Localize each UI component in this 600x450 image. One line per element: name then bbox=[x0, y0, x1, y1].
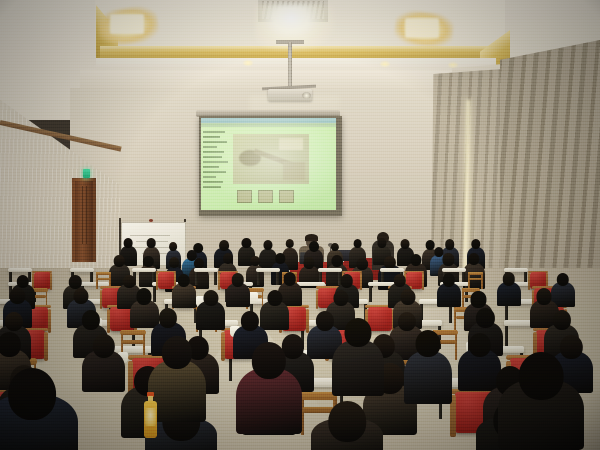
audience-person-r2-c3-head bbox=[241, 311, 259, 331]
audience-person-r1-c4-head bbox=[267, 290, 282, 306]
audience-person-center-dark-torso bbox=[332, 340, 384, 396]
beverage-bottle bbox=[144, 392, 157, 438]
wood-chair-r0-c1-slat bbox=[97, 278, 109, 280]
cove-downlight-1 bbox=[243, 60, 253, 66]
projection-screen bbox=[201, 118, 336, 210]
audience-person-r0-c8 bbox=[437, 273, 461, 307]
audience-person-r1-c2-head bbox=[137, 288, 152, 304]
audience-person-mid-8-head bbox=[331, 255, 342, 267]
cove-downlight-3 bbox=[448, 62, 458, 68]
audience-person-mid-12-head bbox=[443, 253, 454, 265]
audience-person-r1-c1-head bbox=[73, 288, 88, 304]
audience-person-mid-0-head bbox=[114, 255, 125, 267]
audience-person-r3-c5-head bbox=[469, 333, 491, 357]
projector-pole bbox=[288, 42, 292, 88]
screen-glare bbox=[201, 118, 336, 210]
red-chair-r1-c1-arm-left bbox=[100, 290, 103, 310]
audience-person-r2-c7-head bbox=[553, 310, 571, 330]
audience-person-far-0-head bbox=[124, 238, 133, 247]
audience-person-r1-c6-head bbox=[400, 289, 415, 305]
audience-person-r1-c8-head bbox=[536, 288, 551, 304]
audience-person-mid-2-head bbox=[169, 257, 179, 268]
whiteboard-clip bbox=[149, 219, 153, 222]
audience-person-r1-c0-head bbox=[10, 288, 25, 304]
door-mullion-1 bbox=[82, 186, 83, 244]
audience-person-far-1-head bbox=[147, 238, 156, 247]
audience-person-right-mid-head bbox=[416, 330, 441, 357]
audience-person-r0-c9-torso bbox=[497, 282, 521, 306]
audience-person-center-dark bbox=[332, 318, 384, 396]
audience-person-r1-c3 bbox=[196, 290, 225, 330]
audience-person-foreground-right-head bbox=[519, 352, 564, 400]
audience-person-far-2-head bbox=[169, 242, 177, 250]
audience-person-far-8-head bbox=[309, 241, 319, 252]
table-r0-c3-leg-right bbox=[214, 272, 217, 286]
wood-chair-r0-c1-crest bbox=[96, 272, 111, 275]
door-mullion-2 bbox=[86, 186, 87, 244]
audience-person-mid-4-head bbox=[223, 253, 233, 264]
audience-person-r2-c2-head bbox=[159, 308, 177, 328]
exit-sign-icon bbox=[83, 169, 90, 178]
audience-person-mid-1-head bbox=[143, 256, 153, 267]
red-chair-r0-c5-arm-right bbox=[360, 273, 362, 290]
audience-person-foreground-left-head bbox=[8, 368, 56, 420]
audience-person-mid-5-head bbox=[250, 256, 260, 266]
audience-person-right-mid-torso bbox=[404, 351, 452, 404]
audience-person-r0-c4 bbox=[226, 273, 250, 307]
red-chair-r1-c4-arm-left bbox=[316, 290, 319, 310]
audience-person-foreground-right bbox=[498, 352, 584, 450]
meeting-room-photo bbox=[0, 0, 600, 450]
red-chair-r0-c0-back bbox=[34, 272, 51, 289]
audience-person-r5-c2 bbox=[311, 401, 383, 450]
audience-person-r3-c1-head bbox=[92, 334, 114, 358]
audience-person-far-12-head bbox=[401, 239, 410, 249]
audience-person-far-6-head bbox=[263, 240, 272, 250]
red-chair-r3-c0-arm-right bbox=[44, 332, 48, 361]
red-chair-r3-c2-arm-left bbox=[221, 332, 225, 361]
audience-person-far-4-head bbox=[219, 240, 229, 251]
audience-person-mid-11-head bbox=[410, 254, 421, 266]
audience-person-r5-c2-head bbox=[328, 401, 365, 441]
red-chair-r0-c2-arm-left bbox=[156, 273, 158, 290]
wood-chair-r0-c7 bbox=[468, 272, 483, 289]
audience-person-far-5-head bbox=[242, 238, 251, 248]
audience-person-maroon-coat-head bbox=[252, 342, 286, 379]
audience-person-maroon-coat bbox=[236, 342, 302, 434]
audience-person-mid-9-head bbox=[357, 258, 369, 271]
ceiling-light-right-core bbox=[405, 18, 439, 38]
audience-person-foreground-left bbox=[0, 368, 78, 450]
audience-person-r0-c3-torso bbox=[172, 283, 196, 307]
red-chair-r0-c0-arm-right bbox=[50, 273, 52, 290]
audience-person-r0-c9 bbox=[497, 272, 521, 306]
audience-person-r2-c1-head bbox=[81, 310, 99, 330]
audience-person-r1-c5-head bbox=[333, 290, 348, 306]
exit-door[interactable] bbox=[75, 181, 93, 262]
wood-chair-r3-c1-slat bbox=[122, 340, 144, 344]
audience-person-r1-c7-head bbox=[471, 291, 486, 307]
table-r1-c5-leg-left bbox=[369, 286, 372, 302]
audience-person-far-9-head bbox=[331, 243, 339, 252]
red-chair-r2-c0-arm-right bbox=[48, 309, 51, 333]
audience-person-r2-c0-head bbox=[5, 312, 23, 332]
audience-person-far-11-head bbox=[378, 238, 387, 248]
ceiling-light-left-core bbox=[110, 14, 144, 34]
wood-chair-r0-c7-crest bbox=[468, 272, 483, 275]
cove-downlight-2 bbox=[380, 61, 390, 67]
audience-person-r0-c4-torso bbox=[226, 283, 250, 307]
audience-person-r1-c3-head bbox=[203, 290, 218, 306]
audience-person-far-10-head bbox=[353, 239, 362, 248]
audience-person-r0-c3 bbox=[172, 274, 196, 308]
wood-chair-r0-c7-slat bbox=[469, 278, 481, 280]
audience-person-right-mid bbox=[404, 330, 452, 404]
red-chair-r0-c6-arm-right bbox=[422, 273, 424, 290]
audience-person-r2-c5-head bbox=[398, 312, 416, 332]
red-chair-r0-c8-arm-left bbox=[528, 273, 530, 290]
audience-person-center-dark-head bbox=[344, 318, 371, 347]
red-chair-r0-c3-arm-left bbox=[218, 273, 220, 290]
bottle-label bbox=[145, 408, 156, 426]
audience-person-r2-c6-head bbox=[476, 308, 494, 328]
audience-person-r0-c8-torso bbox=[437, 283, 461, 307]
audience-person-r3-c0-head bbox=[0, 332, 21, 356]
table-r0-c4-leg-left bbox=[257, 272, 260, 286]
audience-person-mid-7-head bbox=[304, 257, 315, 269]
audience-person-tan-coat-head bbox=[162, 336, 192, 369]
red-chair-r0-c0 bbox=[34, 272, 51, 289]
audience-person-r3-c1 bbox=[82, 334, 125, 392]
projection-screen-frame bbox=[199, 116, 342, 216]
audience-person-far-7-head bbox=[286, 239, 295, 248]
